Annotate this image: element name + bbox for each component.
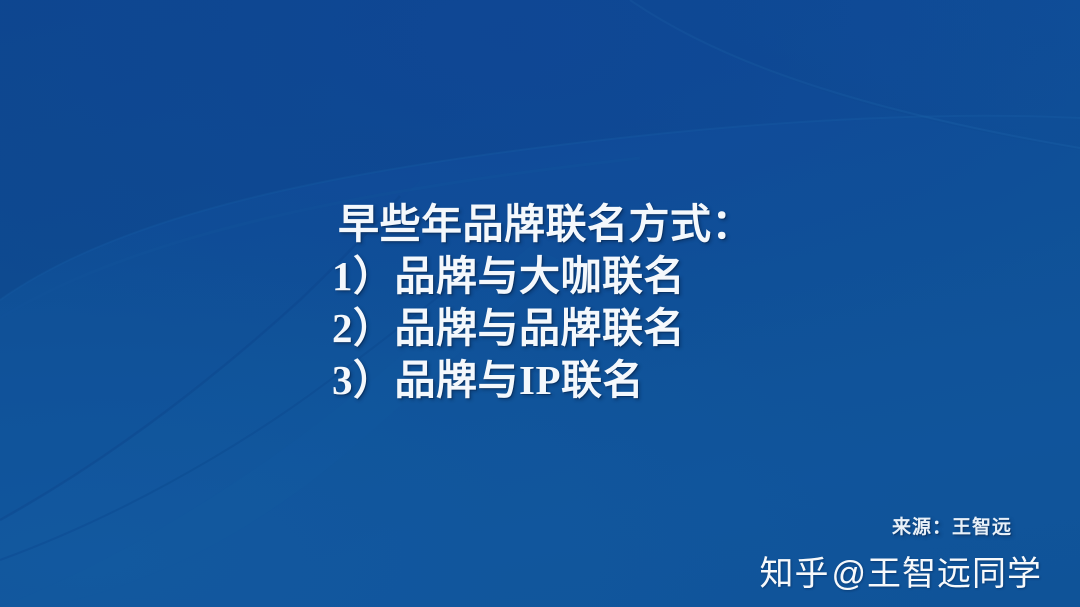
watermark-platform: 知乎	[759, 555, 829, 593]
list-item-1: 1）品牌与大咖联名	[332, 250, 1032, 302]
watermark-handle: @王智远同学	[829, 555, 1042, 593]
slide-body-text: 早些年品牌联名方式： 1）品牌与大咖联名 2）品牌与品牌联名 3）品牌与IP联名	[332, 198, 1032, 406]
slide-title: 早些年品牌联名方式：	[332, 198, 1032, 250]
zhihu-watermark: 知乎@王智远同学	[759, 546, 1042, 595]
presentation-slide: 早些年品牌联名方式： 1）品牌与大咖联名 2）品牌与品牌联名 3）品牌与IP联名…	[0, 0, 1080, 607]
list-item-2: 2）品牌与品牌联名	[332, 302, 1032, 354]
source-credit: 来源：王智远	[892, 512, 1012, 539]
list-item-3: 3）品牌与IP联名	[332, 354, 1032, 406]
